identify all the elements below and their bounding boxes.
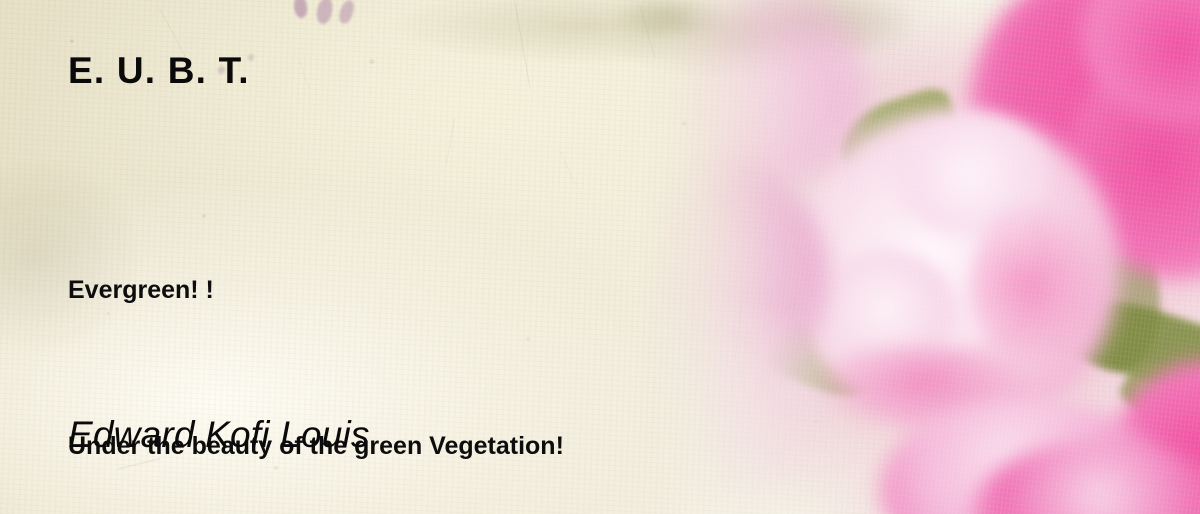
poem-body: Evergreen! ! Under the beauty of the gre… bbox=[68, 160, 564, 514]
poem-content: E. U. B. T. Evergreen! ! Under the beaut… bbox=[0, 0, 1200, 514]
poem-author: Edward Kofi Louis bbox=[68, 414, 370, 456]
poem-card: E. U. B. T. Evergreen! ! Under the beaut… bbox=[0, 0, 1200, 514]
poem-line-1: Evergreen! ! bbox=[68, 264, 564, 316]
poem-title: E. U. B. T. bbox=[68, 50, 250, 92]
